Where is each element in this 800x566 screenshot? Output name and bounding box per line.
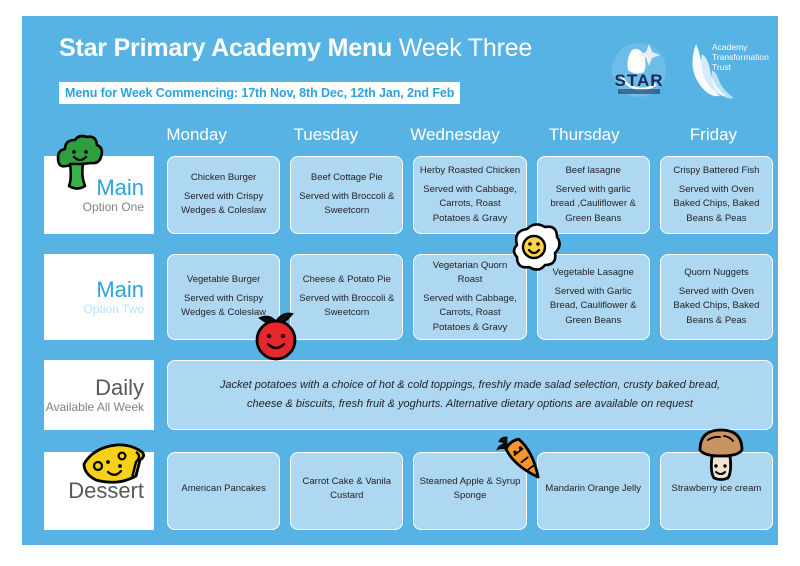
dish-name: Vegetable Burger	[187, 273, 260, 288]
dish-description: Served with Broccoli & Sweetcorn	[296, 190, 397, 219]
cheese-icon	[78, 434, 148, 490]
menu-cells-daily: Jacket potatoes with a choice of hot & c…	[154, 360, 778, 430]
week-commencing-text: Menu for Week Commencing: 17th Nov, 8th …	[65, 86, 454, 100]
day-header-friday: Friday	[649, 122, 778, 150]
day-header-wednesday: Wednesday	[390, 122, 519, 150]
att-line-1: Academy	[712, 42, 769, 52]
dish-name: Cheese & Potato Pie	[303, 273, 391, 288]
day-header-row: Monday Tuesday Wednesday Thursday Friday	[132, 122, 778, 150]
menu-row-dessert: Dessert American Pancakes Carrot Cake & …	[44, 452, 778, 530]
dish-name: Mandarin Orange Jelly	[545, 482, 641, 497]
svg-text:STAR: STAR	[614, 71, 663, 90]
dish-name: Chicken Burger	[191, 171, 256, 186]
star-logo-graphic: STAR	[602, 38, 676, 100]
week-commencing-bar: Menu for Week Commencing: 17th Nov, 8th …	[59, 82, 460, 104]
dish-name: Herby Roasted Chicken	[420, 164, 520, 179]
dish-description: Served with Oven Baked Chips, Baked Bean…	[666, 285, 767, 329]
row-label-title: Daily	[95, 376, 144, 400]
poster-header: Star Primary Academy Menu Week Three Men…	[22, 16, 778, 118]
daily-text-line-2: cheese & biscuits, fresh fruit & yoghurt…	[247, 395, 693, 414]
att-line-2: Transformation	[712, 52, 769, 62]
title-light: Week Three	[399, 34, 532, 62]
dish-name: Strawberry ice cream	[672, 482, 762, 497]
att-line-3: Trust	[712, 62, 769, 72]
title-bold: Star Primary Academy Menu	[59, 34, 392, 62]
menu-cells-main-option-one: Chicken Burger Served with Crispy Wedges…	[154, 156, 778, 234]
dish-description: Served with Cabbage, Carrots, Roast Pota…	[419, 183, 520, 227]
menu-cell[interactable]: Beef Cottage Pie Served with Broccoli & …	[290, 156, 403, 234]
dish-description: Served with Oven Baked Chips, Baked Bean…	[666, 183, 767, 227]
day-header-thursday: Thursday	[520, 122, 649, 150]
broccoli-icon	[46, 130, 108, 192]
dish-description: Served with garlic bread ,Cauliflower & …	[543, 183, 644, 227]
dish-description: Served with Cabbage, Carrots, Roast Pota…	[419, 292, 520, 336]
carrot-icon	[492, 428, 556, 490]
row-label-main-option-two: Main Option Two	[44, 254, 154, 340]
day-header-tuesday: Tuesday	[261, 122, 390, 150]
att-logo-text: Academy Transformation Trust	[712, 42, 769, 72]
menu-cell[interactable]: Cheese & Potato Pie Served with Broccoli…	[290, 254, 403, 340]
row-label-subtitle: Available All Week	[46, 400, 144, 415]
star-academy-logo: STAR	[602, 38, 676, 100]
day-header-monday: Monday	[132, 122, 261, 150]
menu-cell[interactable]: Chicken Burger Served with Crispy Wedges…	[167, 156, 280, 234]
daily-banner[interactable]: Jacket potatoes with a choice of hot & c…	[167, 360, 773, 430]
dish-description: Served with Broccoli & Sweetcorn	[296, 292, 397, 321]
menu-row-main-option-one: Main Option One Chicken Burger Served wi…	[44, 156, 778, 234]
dish-name: American Pancakes	[181, 482, 265, 497]
menu-poster: Star Primary Academy Menu Week Three Men…	[22, 16, 778, 545]
menu-cells-dessert: American Pancakes Carrot Cake & Vanila C…	[154, 452, 778, 530]
dish-name: Beef lasagne	[565, 164, 620, 179]
dish-name: Carrot Cake & Vanila Custard	[296, 475, 397, 504]
row-label-title: Main	[96, 278, 144, 302]
row-label-subtitle: Option One	[83, 200, 144, 215]
dish-name: Crispy Battered Fish	[673, 164, 759, 179]
daily-text-line-1: Jacket potatoes with a choice of hot & c…	[220, 376, 720, 395]
dish-description: Served with Garlic Bread, Cauliflower & …	[543, 285, 644, 329]
menu-cell[interactable]: Crispy Battered Fish Served with Oven Ba…	[660, 156, 773, 234]
row-label-daily: Daily Available All Week	[44, 360, 154, 430]
dish-description: Served with Crispy Wedges & Coleslaw	[173, 190, 274, 219]
dish-name: Beef Cottage Pie	[311, 171, 383, 186]
page-title: Star Primary Academy Menu Week Three	[59, 34, 532, 63]
menu-cell[interactable]: American Pancakes	[167, 452, 280, 530]
academy-transformation-trust-logo: Academy Transformation Trust	[686, 36, 772, 100]
menu-cell[interactable]: Quorn Nuggets Served with Oven Baked Chi…	[660, 254, 773, 340]
menu-row-main-option-two: Main Option Two Vegetable Burger Served …	[44, 254, 778, 340]
tomato-icon	[244, 306, 306, 366]
menu-cell[interactable]: Carrot Cake & Vanila Custard	[290, 452, 403, 530]
menu-row-daily: Daily Available All Week Jacket potatoes…	[44, 360, 778, 430]
fried-egg-icon	[503, 221, 565, 283]
row-label-subtitle: Option Two	[84, 302, 144, 317]
mushroom-icon	[694, 424, 748, 482]
dish-name: Quorn Nuggets	[684, 266, 748, 281]
